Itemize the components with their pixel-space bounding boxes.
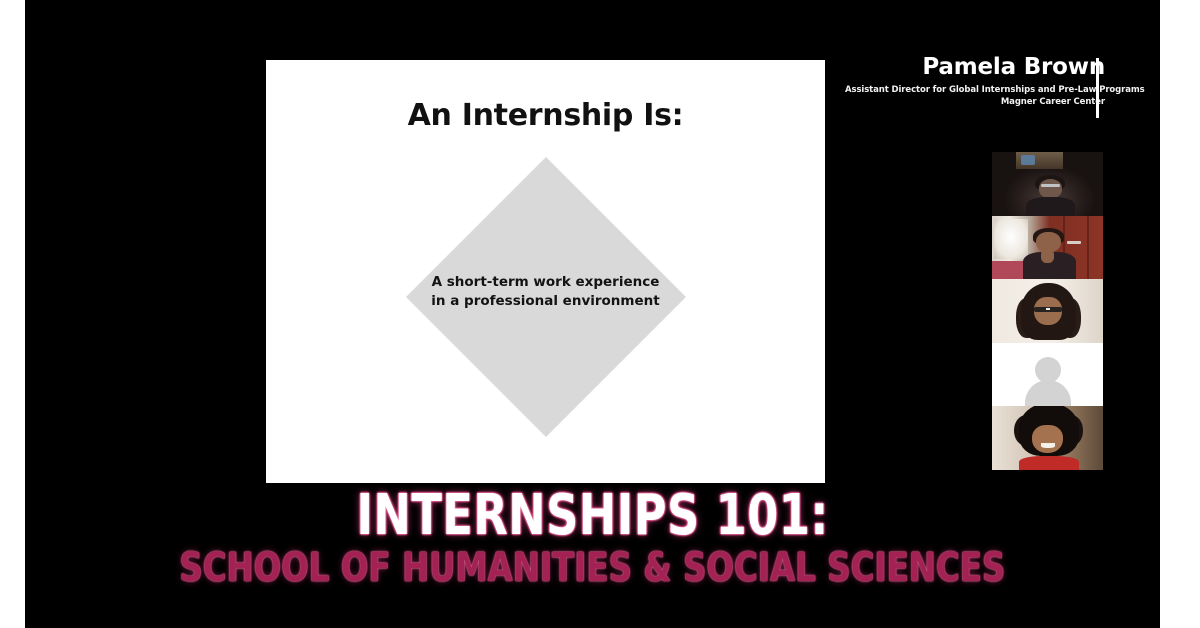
lower-third-title-block: INTERNSHIPS 101: SCHOOL OF HUMANITIES & …	[25, 487, 1160, 590]
tile2-window-light	[994, 219, 1027, 258]
presenter-name-block: Pamela Brown Assistant Director for Glob…	[845, 54, 1105, 108]
tile1-background-object	[1021, 155, 1035, 165]
presenter-organization: Magner Career Center	[845, 96, 1105, 108]
tile1-face	[1039, 179, 1062, 198]
tile1-glasses	[1041, 184, 1060, 187]
avatar-head-icon	[1035, 357, 1061, 383]
diamond-text-block: A short-term work experience in a profes…	[406, 273, 686, 311]
tile2-cabinet-seam-right	[1087, 216, 1089, 280]
tile2-foreground-fabric	[992, 261, 1025, 279]
participant-tile-2[interactable]	[992, 216, 1103, 280]
tile2-cabinet-handle	[1067, 241, 1080, 244]
shared-screen-slide[interactable]: An Internship Is: A short-term work expe…	[266, 60, 825, 483]
webinar-subtitle: SCHOOL OF HUMANITIES & SOCIAL SCIENCES	[139, 546, 1047, 590]
tile5-face	[1032, 425, 1063, 453]
diamond-text-line-1: A short-term work experience	[406, 273, 686, 292]
tile5-shirt	[1019, 456, 1079, 470]
avatar-body-icon	[1025, 380, 1071, 406]
screenshot-stage: An Internship Is: A short-term work expe…	[0, 0, 1200, 628]
webinar-title: INTERNSHIPS 101:	[139, 487, 1047, 545]
tile5-smile	[1041, 443, 1055, 447]
participant-tile-3[interactable]	[992, 279, 1103, 343]
presenter-name: Pamela Brown	[845, 54, 1105, 81]
slide-title: An Internship Is:	[266, 98, 825, 133]
tile2-hand	[1041, 249, 1054, 263]
participant-tile-5[interactable]	[992, 406, 1103, 470]
diamond-graphic: A short-term work experience in a profes…	[406, 157, 686, 437]
participant-tile-1[interactable]	[992, 152, 1103, 216]
default-avatar-icon	[1015, 343, 1081, 407]
participant-tile-4[interactable]	[992, 343, 1103, 407]
tile3-glasses-bridge	[1046, 308, 1049, 310]
participant-tile-strip[interactable]	[992, 152, 1103, 470]
presenter-role: Assistant Director for Global Internship…	[845, 84, 1105, 96]
diamond-text-line-2: in a professional environment	[406, 292, 686, 311]
video-conference-frame: An Internship Is: A short-term work expe…	[25, 0, 1160, 628]
presenter-accent-bar	[1096, 58, 1099, 118]
tile1-torso	[1026, 197, 1075, 216]
